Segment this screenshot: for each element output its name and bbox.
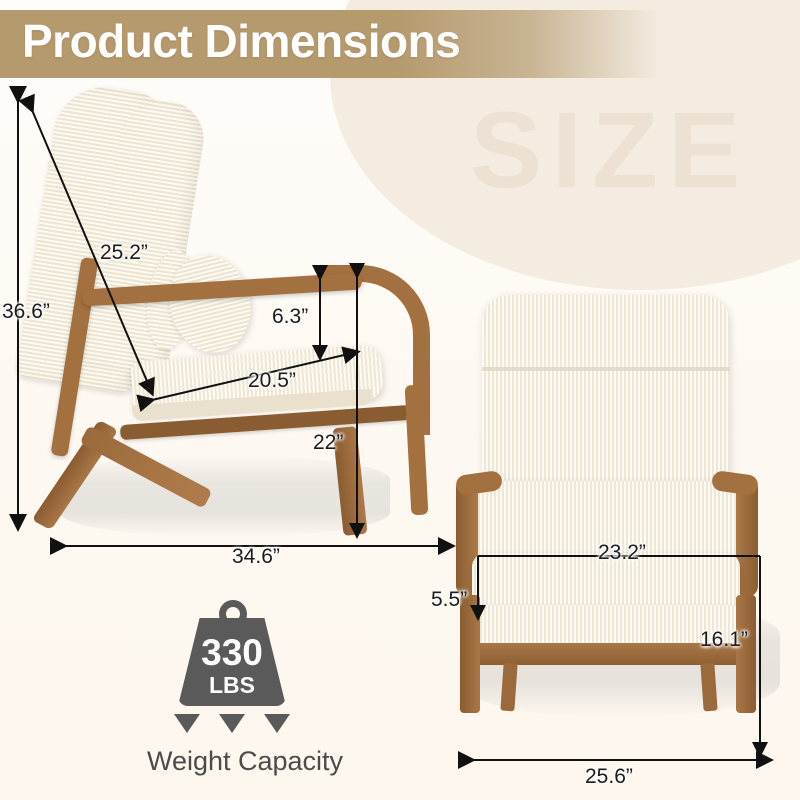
dimension-label-cushion-thickness: 5.5” (431, 588, 467, 612)
down-triangle-icon (174, 714, 200, 733)
dimension-label-armrest-height: 22” (313, 431, 343, 455)
weight-icon: 330 LBS (172, 600, 292, 710)
dimension-arrow-lines (0, 0, 800, 800)
weight-arrows-group (174, 714, 290, 738)
weight-capacity-badge: 330 LBS Weight Capacity (130, 600, 360, 785)
dimension-label-seat-height: 16.1” (700, 628, 748, 652)
dimension-annotations: 36.6” 25.2” 6.3” 20.5” 22” 34.6” 23.2” 5… (0, 0, 800, 800)
weight-capacity-value: 330 (172, 634, 292, 671)
down-triangle-icon (264, 714, 290, 733)
dimension-label-overall-width: 25.6” (585, 765, 633, 789)
weight-capacity-caption: Weight Capacity (110, 746, 380, 777)
down-triangle-icon (219, 714, 245, 733)
dimension-label-seat-depth: 20.5” (248, 369, 296, 393)
dimension-label-armrest-to-seat-height: 6.3” (272, 305, 308, 329)
dimension-label-overall-height: 36.6” (2, 300, 50, 324)
dimension-label-seat-width: 23.2” (598, 541, 646, 565)
dimension-label-overall-depth: 34.6” (232, 545, 280, 569)
weight-capacity-unit: LBS (172, 674, 292, 697)
product-dimensions-infographic: SIZE Product Dimensions (0, 0, 800, 800)
dimension-label-backrest-height: 25.2” (100, 241, 148, 265)
